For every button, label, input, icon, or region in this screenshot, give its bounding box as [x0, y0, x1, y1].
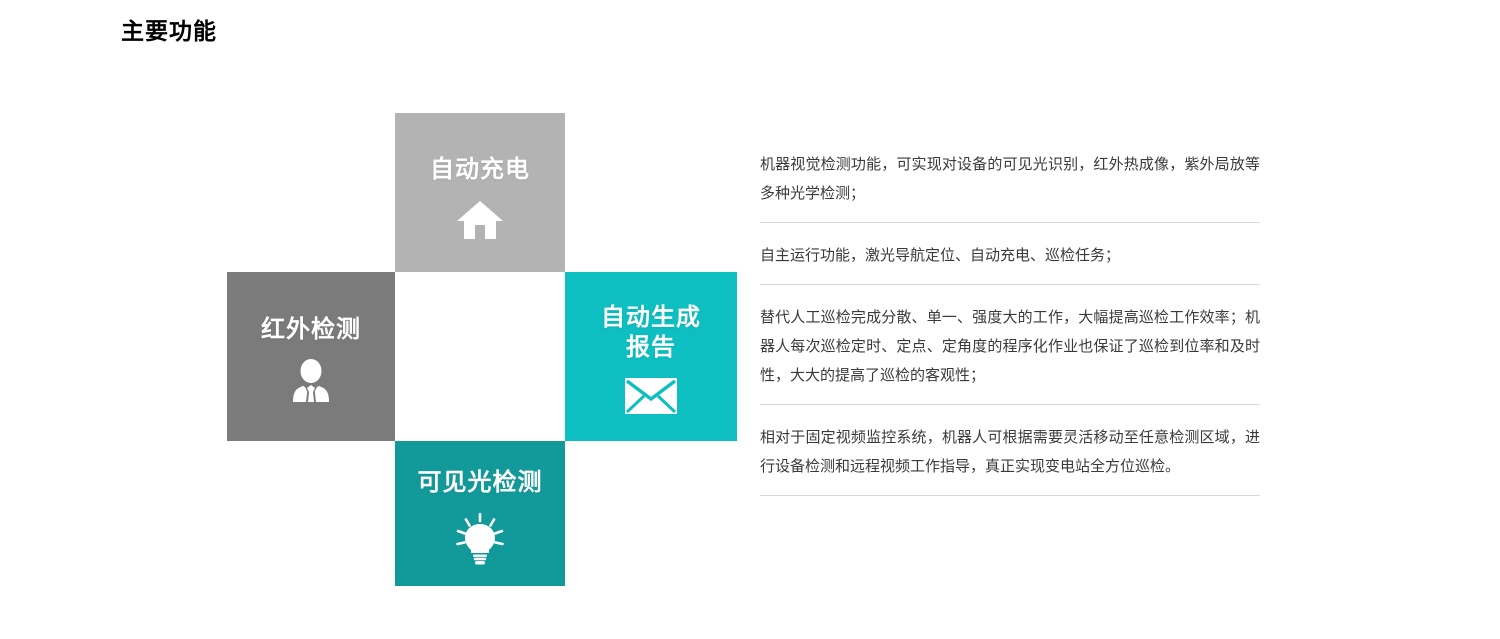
- feature-text: 替代人工巡检完成分散、单一、强度大的工作，大幅提高巡检工作效率；机器人每次巡检定…: [760, 303, 1260, 390]
- feature-item-machine-vision: 机器视觉检测功能，可实现对设备的可见光识别，红外热成像，紫外局放等多种光学检测；: [760, 150, 1260, 223]
- page-title: 主要功能: [121, 18, 217, 46]
- envelope-icon: [624, 377, 678, 415]
- feature-list: 机器视觉检测功能，可实现对设备的可见光识别，红外热成像，紫外局放等多种光学检测；…: [760, 150, 1260, 496]
- tile-auto-charging-label: 自动充电: [430, 155, 530, 185]
- lightbulb-icon: [453, 512, 507, 566]
- tile-infrared-detection-label: 红外检测: [261, 315, 361, 345]
- tile-auto-report-label-line1: 自动生成: [601, 303, 701, 333]
- feature-item-autonomous-operation: 自主运行功能，激光导航定位、自动充电、巡检任务；: [760, 241, 1260, 285]
- person-icon: [290, 359, 332, 403]
- tile-auto-charging[interactable]: 自动充电: [395, 113, 565, 272]
- tile-auto-report-label-line2: 报告: [601, 333, 701, 363]
- feature-cross-diagram: 自动充电 红外检测 自动生成 报告: [227, 113, 737, 586]
- tile-auto-report[interactable]: 自动生成 报告: [565, 272, 737, 441]
- feature-text: 相对于固定视频监控系统，机器人可根据需要灵活移动至任意检测区域，进行设备检测和远…: [760, 423, 1260, 481]
- feature-text: 自主运行功能，激光导航定位、自动充电、巡检任务；: [760, 241, 1260, 270]
- feature-text: 机器视觉检测功能，可实现对设备的可见光识别，红外热成像，紫外局放等多种光学检测；: [760, 150, 1260, 208]
- tile-visible-light-detection[interactable]: 可见光检测: [395, 441, 565, 586]
- feature-item-mobile-vs-fixed-cctv: 相对于固定视频监控系统，机器人可根据需要灵活移动至任意检测区域，进行设备检测和远…: [760, 423, 1260, 496]
- tile-infrared-detection[interactable]: 红外检测: [227, 272, 395, 441]
- tile-auto-report-label: 自动生成 报告: [601, 303, 701, 363]
- tile-center-spacer: [395, 272, 565, 441]
- tile-visible-light-detection-label: 可见光检测: [418, 468, 543, 498]
- house-icon: [456, 199, 504, 241]
- feature-item-replace-manual-inspection: 替代人工巡检完成分散、单一、强度大的工作，大幅提高巡检工作效率；机器人每次巡检定…: [760, 303, 1260, 405]
